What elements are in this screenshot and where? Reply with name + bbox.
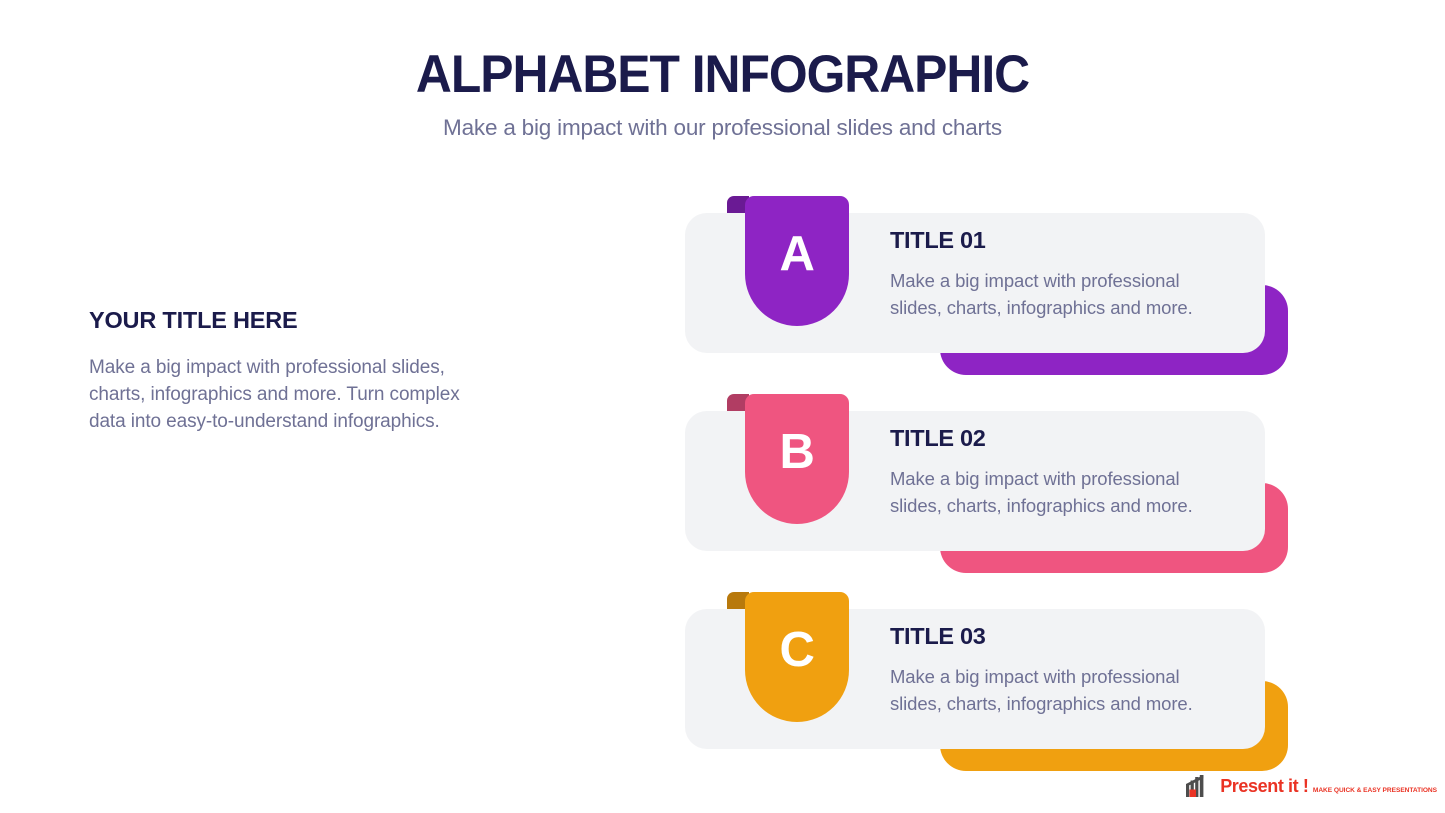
brand-logo: Present it ! MAKE QUICK & EASY PRESENTAT… <box>1185 774 1437 799</box>
present-it-mark-icon <box>1185 774 1215 799</box>
card-title-a: TITLE 01 <box>890 226 1250 254</box>
alphabet-card-b[interactable]: B TITLE 02 Make a big impact with profes… <box>685 388 1290 588</box>
card-title-c: TITLE 03 <box>890 622 1250 650</box>
badge-letter-a: A <box>780 230 815 279</box>
page-header: ALPHABET INFOGRAPHIC Make a big impact w… <box>0 44 1445 143</box>
badge-shield-icon-c: C <box>745 592 849 722</box>
badge-shield-icon-b: B <box>745 394 849 524</box>
badge-letter-b: B <box>780 428 815 477</box>
card-description-a: Make a big impact with professional slid… <box>890 267 1230 321</box>
card-description-c: Make a big impact with professional slid… <box>890 663 1230 717</box>
intro-block: YOUR TITLE HERE Make a big impact with p… <box>89 305 499 436</box>
page-subtitle: Make a big impact with our professional … <box>0 113 1445 143</box>
card-text-a: TITLE 01 Make a big impact with professi… <box>890 226 1250 321</box>
logo-text-group: Present it ! MAKE QUICK & EASY PRESENTAT… <box>1220 777 1437 797</box>
card-description-b: Make a big impact with professional slid… <box>890 465 1230 519</box>
card-title-b: TITLE 02 <box>890 424 1250 452</box>
page-title: ALPHABET INFOGRAPHIC <box>43 44 1401 106</box>
alphabet-card-a[interactable]: A TITLE 01 Make a big impact with profes… <box>685 190 1290 390</box>
intro-description: Make a big impact with professional slid… <box>89 354 489 436</box>
logo-tagline: MAKE QUICK & EASY PRESENTATIONS <box>1313 787 1437 794</box>
card-text-b: TITLE 02 Make a big impact with professi… <box>890 424 1250 519</box>
logo-name: Present it ! <box>1220 776 1308 796</box>
intro-title: YOUR TITLE HERE <box>89 305 499 335</box>
badge-letter-c: C <box>780 626 815 675</box>
card-text-c: TITLE 03 Make a big impact with professi… <box>890 622 1250 717</box>
badge-shield-icon-a: A <box>745 196 849 326</box>
alphabet-card-c[interactable]: C TITLE 03 Make a big impact with profes… <box>685 586 1290 786</box>
